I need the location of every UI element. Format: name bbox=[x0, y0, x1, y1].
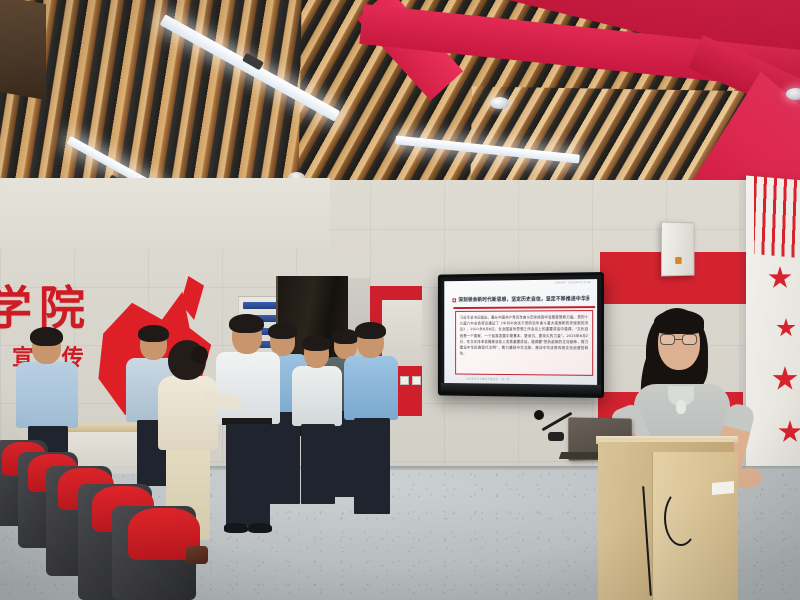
presenter-collar-tie bbox=[676, 400, 686, 414]
wall-panel-upper-left bbox=[0, 178, 330, 248]
slide-footer-text: 中共党史学习教育专题宣讲 · 第三讲 bbox=[466, 377, 589, 382]
podium-cable-2 bbox=[664, 490, 698, 546]
microphone-base bbox=[548, 432, 564, 441]
microphone-icon bbox=[534, 410, 544, 420]
attendee-4-legs bbox=[226, 424, 270, 526]
attendee-3-hair-bun bbox=[191, 346, 208, 364]
attendee-5-hair bbox=[268, 323, 297, 339]
presenter-hair-front bbox=[654, 310, 704, 334]
display-screen[interactable]: SMART INTERACTIVE 深刻领会新时代新思想，坚定历史自信，坚定不移… bbox=[444, 279, 597, 385]
attendee-4-shoe-right bbox=[248, 523, 272, 533]
speaker-badge bbox=[675, 257, 681, 264]
attendee-4-hair bbox=[229, 314, 264, 333]
seat-5-armrest bbox=[186, 546, 208, 564]
ceiling-edge-left bbox=[0, 0, 46, 100]
presenter-glasses-icon bbox=[660, 334, 700, 345]
attendee-8-legs bbox=[354, 418, 390, 514]
conference-room-photo: 学院 宣 传 SMART INTERACTIVE 深刻领会新时代新思想，坚定历史… bbox=[0, 0, 800, 600]
attendee-3-torso bbox=[158, 376, 218, 450]
attendee-8-hair bbox=[355, 322, 386, 339]
glasses-lens-left bbox=[660, 334, 675, 345]
attendee-8-torso bbox=[344, 356, 398, 420]
podium-papers bbox=[712, 481, 734, 495]
attendee-4-torso bbox=[216, 352, 280, 424]
slide-title-text: 深刻领会新时代新思想，坚定历史自信，坚定不移推进中华民族伟大复兴 bbox=[458, 296, 589, 303]
laptop-base[interactable] bbox=[559, 452, 601, 459]
presentation-display[interactable]: SMART INTERACTIVE 深刻领会新时代新思想，坚定历史自信，坚定不移… bbox=[438, 272, 604, 398]
display-brand-text: SMART INTERACTIVE bbox=[555, 281, 591, 284]
attendee-6-hair bbox=[302, 335, 331, 351]
glasses-bridge bbox=[675, 339, 682, 340]
power-socket-3[interactable] bbox=[412, 376, 421, 385]
display-bezel bbox=[441, 383, 601, 395]
slide-title-underline bbox=[453, 306, 595, 309]
glasses-lens-right bbox=[682, 334, 697, 345]
slide-bullet-icon bbox=[452, 298, 456, 302]
slide-title: 深刻领会新时代新思想，坚定历史自信，坚定不移推进中华民族伟大复兴 bbox=[452, 295, 589, 303]
attendee-2-hair bbox=[138, 325, 169, 342]
attendee-6-legs bbox=[301, 424, 335, 504]
attendee-4-shoe-left bbox=[224, 523, 248, 533]
attendee-1-torso bbox=[16, 362, 78, 428]
star-panel-stripes bbox=[754, 176, 800, 258]
power-socket-2[interactable] bbox=[400, 376, 409, 385]
downlight-icon-1 bbox=[490, 97, 509, 109]
wall-speaker-icon bbox=[661, 222, 694, 277]
downlight-icon-2 bbox=[786, 88, 800, 100]
attendee-1-hair bbox=[30, 327, 63, 346]
slide-body-text: 习近平总书记指出，要从中国共产党百年奋斗历史经验中汲取智慧和力量。党的十九届六中… bbox=[460, 314, 589, 357]
attendee-6-torso bbox=[292, 366, 342, 426]
